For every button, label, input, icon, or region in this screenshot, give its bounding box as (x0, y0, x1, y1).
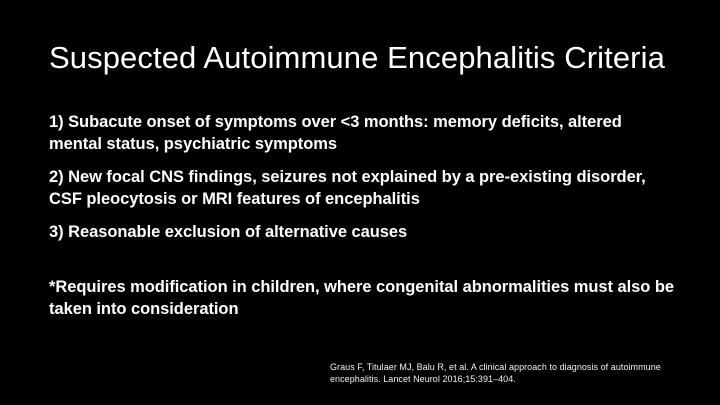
criteria-list: 1) Subacute onset of symptoms over <3 mo… (49, 111, 677, 320)
page-title: Suspected Autoimmune Encephalitis Criter… (49, 38, 689, 78)
paragraph-spacer (49, 254, 677, 276)
source-citation: Graus F, Titulaer MJ, Balu R, et al. A c… (330, 362, 688, 385)
list-item: 3) Reasonable exclusion of alternative c… (49, 221, 677, 243)
footnote-text: *Requires modification in children, wher… (49, 276, 677, 320)
list-item: 2) New focal CNS findings, seizures not … (49, 166, 677, 210)
list-item: 1) Subacute onset of symptoms over <3 mo… (49, 111, 677, 155)
presentation-slide: Suspected Autoimmune Encephalitis Criter… (0, 0, 720, 405)
